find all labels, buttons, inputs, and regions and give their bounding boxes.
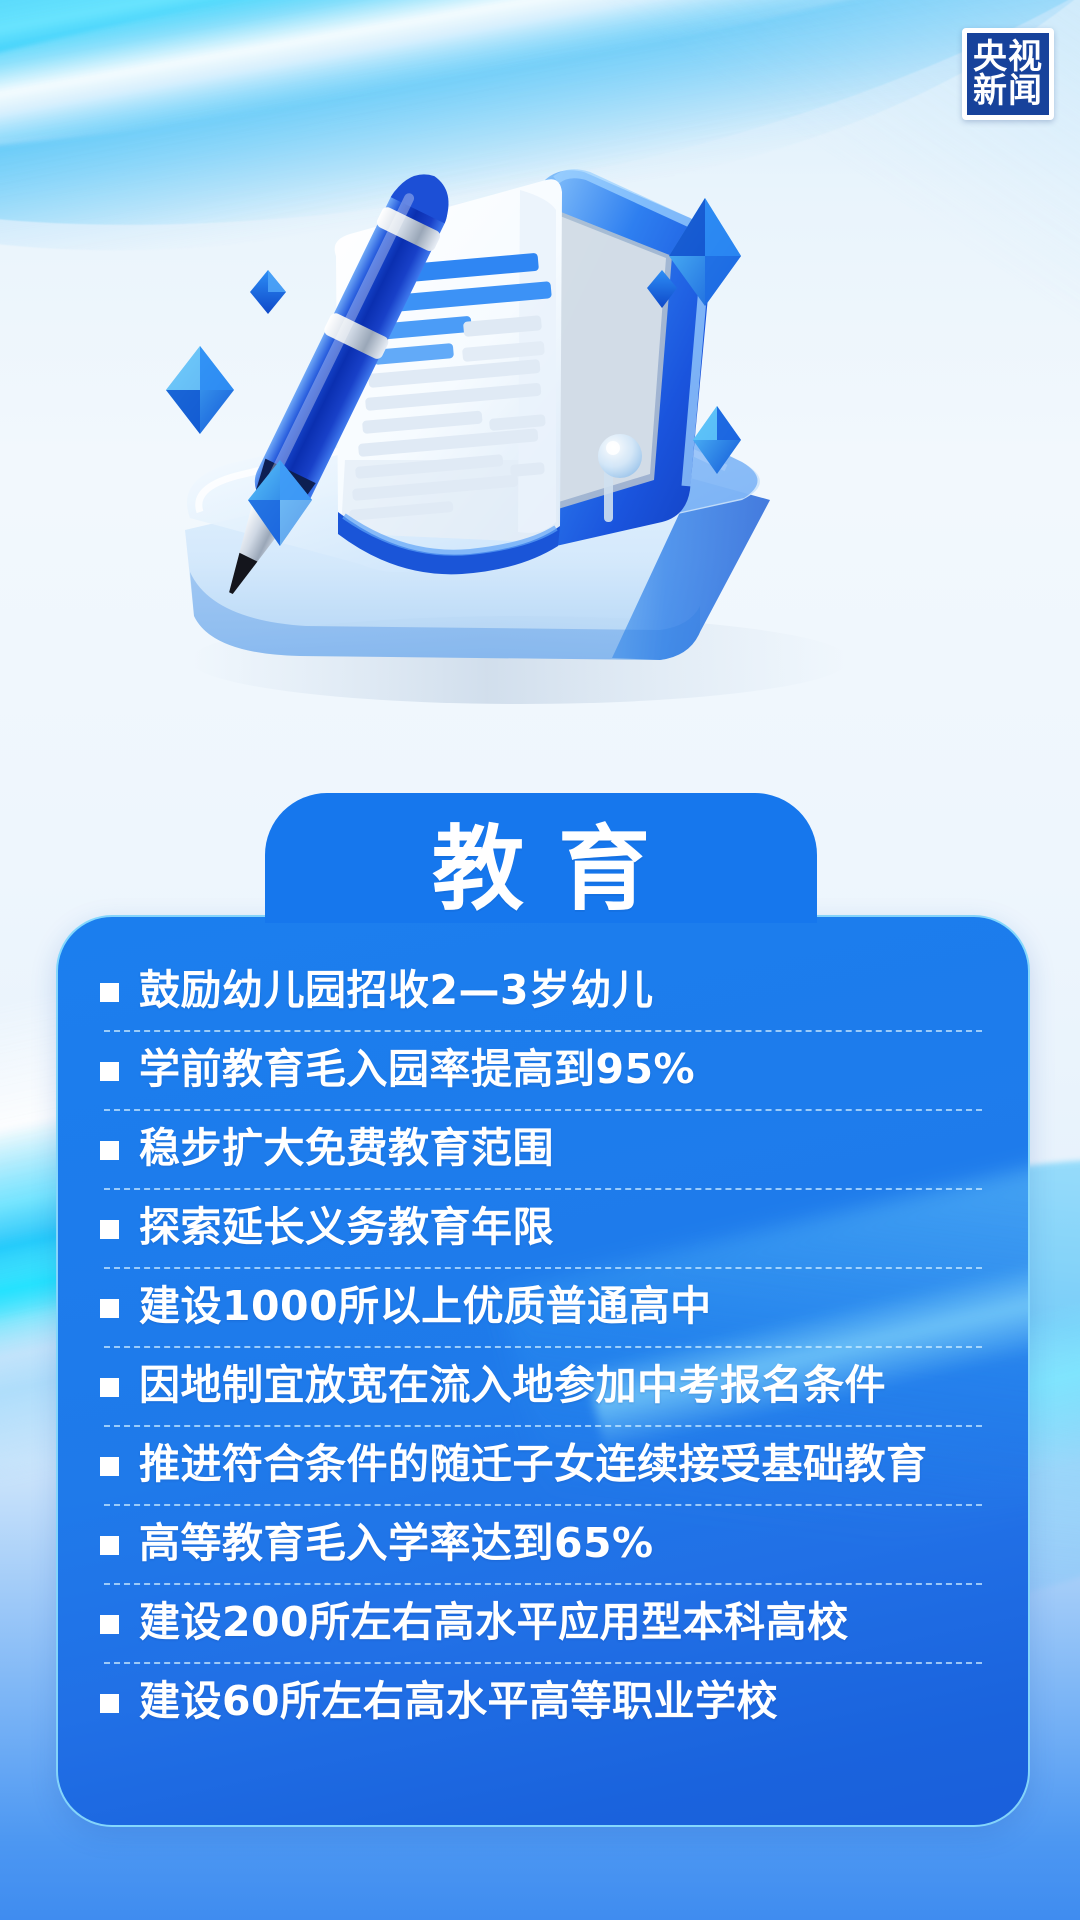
open-book [314,170,712,574]
list-item: 探索延长义务教育年限 [100,1188,988,1267]
bullet-square-icon [100,1615,119,1634]
logo-line-2: 新闻 [973,74,1043,108]
education-3d-illustration [0,60,1080,720]
list-item-label: 探索延长义务教育年限 [139,1206,554,1249]
list-item: 鼓励幼儿园招收2—3岁幼儿 [100,951,988,1030]
bullet-square-icon [100,1062,119,1081]
cctv-news-logo: 央视 新闻 [962,28,1054,120]
list-item-label: 建设60所左右高水平高等职业学校 [139,1680,778,1723]
bullet-square-icon [100,1694,119,1713]
policy-list: 鼓励幼儿园招收2—3岁幼儿 学前教育毛入园率提高到95% 稳步扩大免费教育范围 … [58,917,1028,1741]
bullet-square-icon [100,1536,119,1555]
bullet-square-icon [100,1299,119,1318]
list-item: 建设1000所以上优质普通高中 [100,1267,988,1346]
poster-root: 央视 新闻 教育 鼓励幼儿园招收2—3岁幼儿 学前教育毛入园率提高到95% 稳步… [0,0,1080,1920]
list-item: 推进符合条件的随迁子女连续接受基础教育 [100,1425,988,1504]
list-item-label: 建设1000所以上优质普通高中 [139,1285,712,1328]
bullet-square-icon [100,1457,119,1476]
policy-card: 鼓励幼儿园招收2—3岁幼儿 学前教育毛入园率提高到95% 稳步扩大免费教育范围 … [56,915,1030,1827]
list-item: 稳步扩大免费教育范围 [100,1109,988,1188]
list-item: 学前教育毛入园率提高到95% [100,1030,988,1109]
logo-line-1: 央视 [973,40,1043,74]
list-item-label: 鼓励幼儿园招收2—3岁幼儿 [139,969,654,1012]
list-item: 高等教育毛入学率达到65% [100,1504,988,1583]
list-item: 建设60所左右高水平高等职业学校 [100,1662,988,1741]
bullet-square-icon [100,1141,119,1160]
list-item-label: 建设200所左右高水平应用型本科高校 [139,1601,849,1644]
list-item-label: 因地制宜放宽在流入地参加中考报名条件 [139,1364,886,1407]
bullet-square-icon [100,1378,119,1397]
bullet-square-icon [100,983,119,1002]
page-title: 教育 [398,824,684,916]
list-item-label: 推进符合条件的随迁子女连续接受基础教育 [139,1443,928,1486]
logo-text-line1: 央视 [973,40,1043,74]
section-title-tab: 教育 [265,793,817,923]
list-item-label: 高等教育毛入学率达到65% [139,1522,654,1565]
logo-text-line2: 新闻 [973,74,1043,108]
bullet-square-icon [100,1220,119,1239]
list-item: 建设200所左右高水平应用型本科高校 [100,1583,988,1662]
list-item-label: 稳步扩大免费教育范围 [139,1127,554,1170]
list-item: 因地制宜放宽在流入地参加中考报名条件 [100,1346,988,1425]
list-item-label: 学前教育毛入园率提高到95% [139,1048,695,1091]
